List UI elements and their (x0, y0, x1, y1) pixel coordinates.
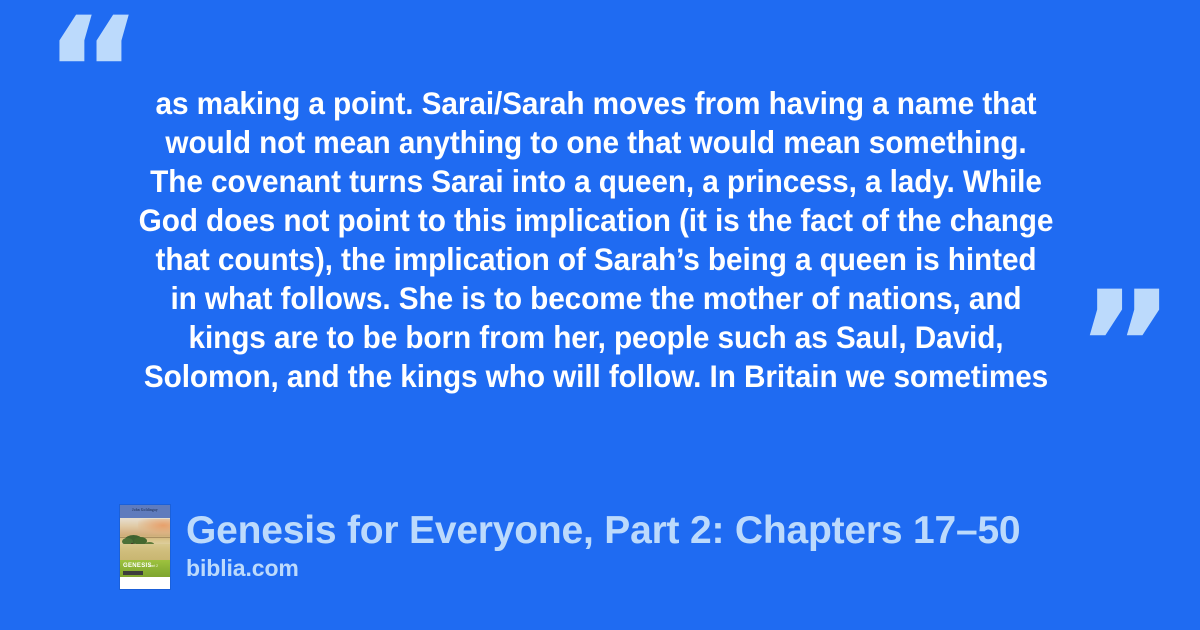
quote-text: as making a point. Sarai/Sarah moves fro… (139, 84, 1054, 396)
site-name: biblia.com (186, 555, 1020, 582)
footer-text-group: Genesis for Everyone, Part 2: Chapters 1… (186, 505, 1020, 582)
cover-bottom-white-area (120, 577, 170, 589)
book-cover-thumbnail: John Goldingay GENESIS Part 2 (120, 505, 170, 589)
opening-quote-mark: “ (44, 0, 141, 148)
closing-quote-mark: ” (1076, 272, 1173, 422)
cover-field (120, 544, 170, 560)
cover-landscape-photo (120, 518, 170, 560)
source-footer: John Goldingay GENESIS Part 2 Genesis fo… (120, 505, 1150, 595)
cover-author-name: John Goldingay (120, 508, 170, 512)
quote-region: “ as making a point. Sarai/Sarah moves f… (0, 0, 1200, 460)
quote-card: “ as making a point. Sarai/Sarah moves f… (0, 0, 1200, 630)
book-title: Genesis for Everyone, Part 2: Chapters 1… (186, 509, 1020, 553)
cover-sky-glow (138, 519, 170, 535)
cover-part-label: Part 2 (149, 564, 158, 568)
cover-publisher-bar (123, 571, 143, 576)
cover-series-title: GENESIS (123, 563, 152, 569)
